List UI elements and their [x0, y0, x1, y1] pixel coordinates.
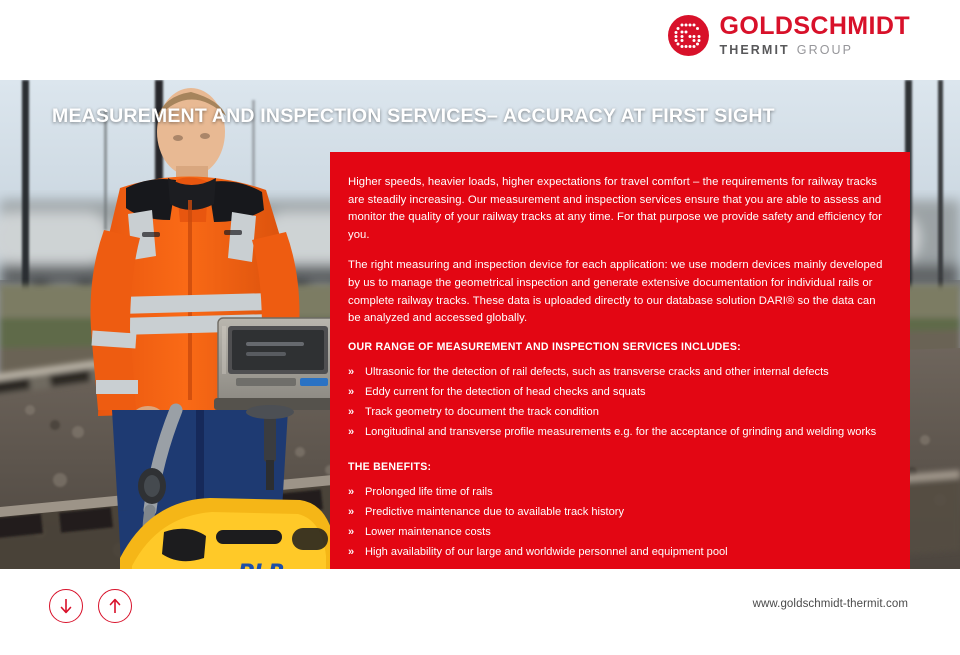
arrow-down-circle-icon: [57, 597, 75, 615]
page-header: GOLDSCHMIDT THERMIT GROUP: [0, 0, 960, 80]
svg-text:PLR: PLR: [238, 561, 285, 569]
logo-company-name: GOLDSCHMIDT: [720, 14, 911, 39]
list-item: » Longitudinal and transverse profile me…: [348, 424, 884, 441]
list-item-label: Prolonged life time of rails: [365, 484, 884, 501]
list-item-label: Lower maintenance costs: [365, 524, 884, 541]
list-item: » Lower maintenance costs: [348, 524, 884, 541]
logo-subtitle: THERMIT GROUP: [720, 44, 911, 57]
content-panel: Higher speeds, heavier loads, higher exp…: [330, 152, 910, 569]
logo-subtitle-group: GROUP: [797, 44, 853, 57]
logo-wordmark: GOLDSCHMIDT THERMIT GROUP: [720, 14, 911, 57]
page-footer: www.goldschmidt-thermit.com: [0, 569, 960, 655]
list-item-label: High availability of our large and world…: [365, 544, 884, 561]
bullet-marker-icon: »: [348, 504, 365, 521]
list-item: » Ultrasonic for the detection of rail d…: [348, 364, 884, 381]
list-item-label: Track geometry to document the track con…: [365, 404, 884, 421]
logo-subtitle-thermit: THERMIT: [720, 44, 790, 57]
services-heading: OUR RANGE OF MEASUREMENT AND INSPECTION …: [348, 341, 884, 353]
bullet-marker-icon: »: [348, 524, 365, 541]
brand-logo[interactable]: GOLDSCHMIDT THERMIT GROUP: [668, 14, 911, 57]
services-list: » Ultrasonic for the detection of rail d…: [348, 364, 884, 441]
benefits-list: » Prolonged life time of rails » Predict…: [348, 484, 884, 561]
navigation-arrows: [49, 589, 132, 623]
list-item-label: Predictive maintenance due to available …: [365, 504, 884, 521]
list-item: » Track geometry to document the track c…: [348, 404, 884, 421]
page-title: MEASUREMENT AND INSPECTION SERVICES– ACC…: [52, 105, 775, 128]
arrow-up-circle-icon: [106, 597, 124, 615]
bullet-marker-icon: »: [348, 404, 365, 421]
goldschmidt-g-dotted-circle-icon: [668, 15, 709, 56]
list-item-label: Ultrasonic for the detection of rail def…: [365, 364, 884, 381]
list-item-label: Longitudinal and transverse profile meas…: [365, 424, 884, 441]
bullet-marker-icon: »: [348, 484, 365, 501]
bullet-marker-icon: »: [348, 424, 365, 441]
intro-paragraph-1: Higher speeds, heavier loads, higher exp…: [348, 174, 884, 244]
scroll-up-button[interactable]: [98, 589, 132, 623]
bullet-marker-icon: »: [348, 544, 365, 561]
logo-dot-matrix: [668, 15, 709, 56]
website-url[interactable]: www.goldschmidt-thermit.com: [753, 598, 908, 610]
bullet-marker-icon: »: [348, 384, 365, 401]
scroll-down-button[interactable]: [49, 589, 83, 623]
list-item: » High availability of our large and wor…: [348, 544, 884, 561]
list-item: » Prolonged life time of rails: [348, 484, 884, 501]
list-item-label: Eddy current for the detection of head c…: [365, 384, 884, 401]
bullet-marker-icon: »: [348, 364, 365, 381]
list-item: » Predictive maintenance due to availabl…: [348, 504, 884, 521]
list-item: » Eddy current for the detection of head…: [348, 384, 884, 401]
intro-paragraph-2: The right measuring and inspection devic…: [348, 257, 884, 327]
benefits-heading: THE BENEFITS:: [348, 461, 884, 473]
